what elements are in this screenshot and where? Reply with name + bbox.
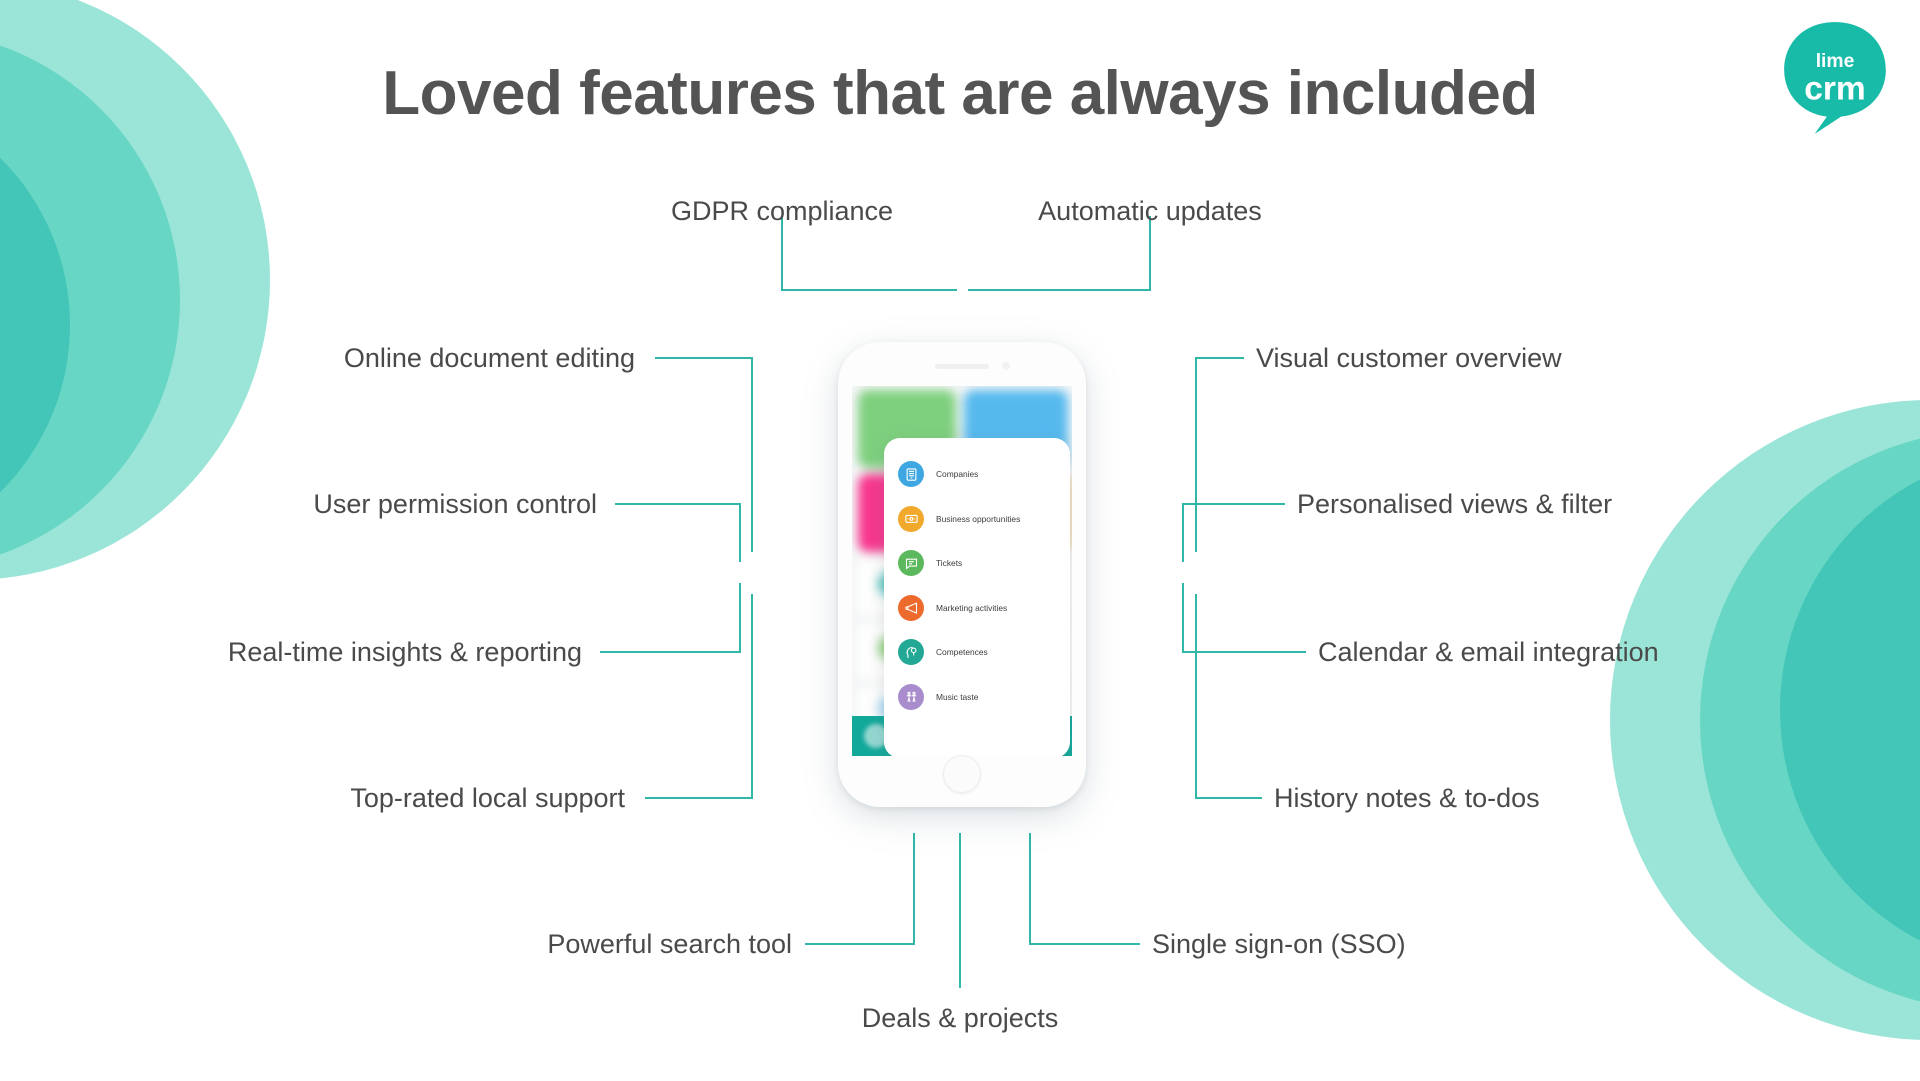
feature-label-history-notes-todos: History notes & to-dos <box>1274 783 1914 814</box>
phone-home-button[interactable] <box>943 755 981 793</box>
feature-label-visual-customer-overview: Visual customer overview <box>1256 343 1896 374</box>
people-music-icon <box>898 684 924 710</box>
menu-item-music-taste[interactable]: Music taste <box>884 675 1070 720</box>
phone-camera <box>1002 362 1010 370</box>
megaphone-icon <box>898 595 924 621</box>
feature-label-single-sign-on: Single sign-on (SSO) <box>1152 929 1792 960</box>
menu-item-label: Tickets <box>936 558 962 568</box>
building-icon <box>898 461 924 487</box>
phone-mockup: Companies Business opportunities <box>838 342 1086 807</box>
feature-label-personalised-views-filter: Personalised views & filter <box>1297 489 1920 520</box>
feature-label-powerful-search-tool: Powerful search tool <box>192 929 792 960</box>
menu-item-marketing-activities[interactable]: Marketing activities <box>884 586 1070 631</box>
chat-ticket-icon <box>898 550 924 576</box>
menu-item-business-opportunities[interactable]: Business opportunities <box>884 497 1070 542</box>
phone-screen: Companies Business opportunities <box>852 386 1072 756</box>
feature-label-user-permission-control: User permission control <box>0 489 597 520</box>
menu-item-label: Marketing activities <box>936 603 1007 613</box>
menu-item-competences[interactable]: Competences <box>884 630 1070 675</box>
menu-item-tickets[interactable]: Tickets <box>884 541 1070 586</box>
feature-label-top-rated-local-support: Top-rated local support <box>25 783 625 814</box>
menu-item-label: Music taste <box>936 692 978 702</box>
banknote-icon <box>898 506 924 532</box>
feature-label-calendar-email-integration: Calendar & email integration <box>1318 637 1920 668</box>
head-idea-icon <box>898 639 924 665</box>
menu-item-label: Business opportunities <box>936 514 1020 524</box>
phone-speaker <box>935 364 989 369</box>
feature-label-deals-projects: Deals & projects <box>660 1003 1260 1034</box>
infographic-canvas: lime crm Loved features that are always … <box>0 0 1920 1081</box>
feature-label-realtime-insights-reporting: Real-time insights & reporting <box>0 637 582 668</box>
menu-item-label: Competences <box>936 647 988 657</box>
feature-label-online-document-editing: Online document editing <box>35 343 635 374</box>
menu-item-companies[interactable]: Companies <box>884 452 1070 497</box>
menu-item-label: Companies <box>936 469 978 479</box>
feature-label-automatic-updates: Automatic updates <box>850 196 1450 227</box>
app-menu-card: Companies Business opportunities <box>884 438 1070 756</box>
